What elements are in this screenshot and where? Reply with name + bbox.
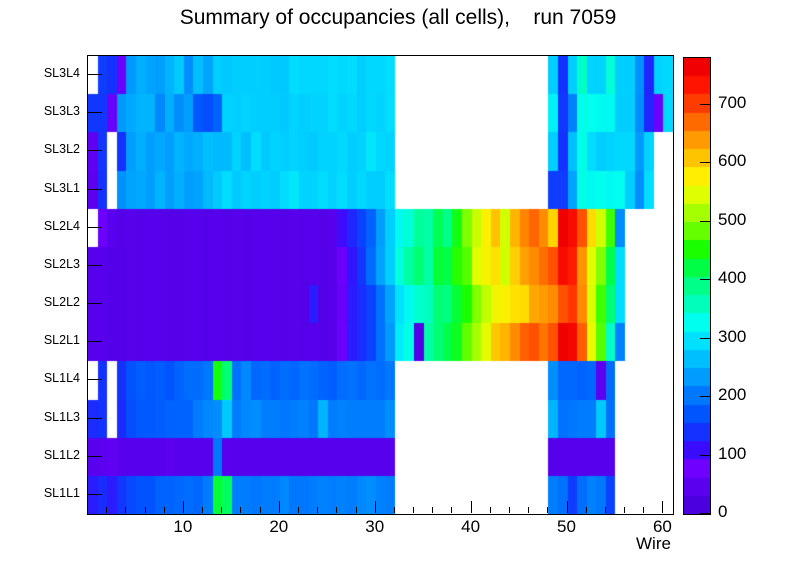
x-axis-minor-tick	[451, 507, 452, 513]
x-axis-minor-tick	[586, 507, 587, 513]
colorbar-tick-label: 100	[718, 444, 746, 464]
x-axis-minor-tick	[605, 507, 606, 513]
colorbar-tick	[700, 396, 711, 397]
y-axis-label-sl3l1: SL3L1	[0, 181, 80, 195]
x-axis-major-tick	[662, 501, 663, 513]
colorbar-tick	[700, 221, 711, 222]
colorbar-tick-label: 0	[718, 502, 727, 522]
y-axis-label-sl2l3: SL2L3	[0, 257, 80, 271]
page-title: Summary of occupancies (all cells), run …	[0, 6, 796, 30]
colorbar-tick-label: 200	[718, 385, 746, 405]
x-axis-minor-tick	[106, 507, 107, 513]
colorbar-tick-label: 600	[718, 151, 746, 171]
y-axis-label-sl2l2: SL2L2	[0, 295, 80, 309]
y-axis-tick	[87, 456, 102, 457]
y-axis-label-sl1l2: SL1L2	[0, 448, 80, 462]
x-axis-minor-tick	[125, 507, 126, 513]
heatmap-plot-area[interactable]	[87, 55, 674, 515]
x-axis-minor-tick	[528, 507, 529, 513]
x-axis-minor-tick	[260, 507, 261, 513]
colorbar-tick-label: 300	[718, 327, 746, 347]
x-axis-major-tick	[471, 501, 472, 513]
colorbar-tick-label: 700	[718, 93, 746, 113]
x-axis-minor-tick	[202, 507, 203, 513]
x-axis-minor-tick	[490, 507, 491, 513]
y-axis-tick	[87, 112, 102, 113]
y-axis-tick	[87, 418, 102, 419]
x-axis-minor-tick	[145, 507, 146, 513]
x-axis-major-tick	[567, 501, 568, 513]
y-axis-tick	[87, 150, 102, 151]
y-axis-label-sl3l4: SL3L4	[0, 66, 80, 80]
x-axis-minor-tick	[336, 507, 337, 513]
x-axis-tick-label: 30	[350, 517, 400, 537]
colorbar-tick	[700, 338, 711, 339]
x-axis-minor-tick	[624, 507, 625, 513]
x-axis-tick-label: 40	[446, 517, 496, 537]
colorbar-gradient	[684, 58, 710, 514]
y-axis-label-sl3l2: SL3L2	[0, 142, 80, 156]
x-axis-minor-tick	[298, 507, 299, 513]
x-axis-minor-tick	[509, 507, 510, 513]
y-axis-tick	[87, 74, 102, 75]
y-axis-label-sl2l4: SL2L4	[0, 219, 80, 233]
x-axis-minor-tick	[547, 507, 548, 513]
colorbar-tick	[700, 279, 711, 280]
colorbar-tick	[700, 162, 711, 163]
y-axis-label-sl1l4: SL1L4	[0, 371, 80, 385]
x-axis-tick-label: 10	[158, 517, 208, 537]
y-axis-label-sl2l1: SL2L1	[0, 333, 80, 347]
x-axis-minor-tick	[164, 507, 165, 513]
x-axis-major-tick	[375, 501, 376, 513]
heatmap-cells[interactable]	[88, 56, 673, 514]
x-axis-minor-tick	[413, 507, 414, 513]
y-axis-tick	[87, 341, 102, 342]
plot-canvas: Summary of occupancies (all cells), run …	[0, 0, 796, 572]
colorbar-tick	[700, 513, 711, 514]
x-axis-tick-label: 20	[254, 517, 304, 537]
y-axis-tick	[87, 494, 102, 495]
x-axis-major-tick	[183, 501, 184, 513]
x-axis-minor-tick	[221, 507, 222, 513]
y-axis-tick	[87, 379, 102, 380]
y-axis-label-sl1l3: SL1L3	[0, 410, 80, 424]
y-axis-tick	[87, 189, 102, 190]
x-axis-minor-tick	[356, 507, 357, 513]
x-axis-title: Wire	[636, 534, 671, 554]
y-axis-label-sl1l1: SL1L1	[0, 486, 80, 500]
y-axis-tick	[87, 265, 102, 266]
colorbar-tick-label: 500	[718, 210, 746, 230]
colorbar-tick-label: 400	[718, 268, 746, 288]
x-axis-minor-tick	[317, 507, 318, 513]
colorbar[interactable]	[683, 57, 711, 515]
y-axis-label-sl3l3: SL3L3	[0, 104, 80, 118]
x-axis-major-tick	[279, 501, 280, 513]
colorbar-tick	[700, 104, 711, 105]
colorbar-tick	[700, 455, 711, 456]
y-axis-tick	[87, 227, 102, 228]
x-axis-minor-tick	[394, 507, 395, 513]
y-axis-tick	[87, 303, 102, 304]
x-axis-minor-tick	[432, 507, 433, 513]
x-axis-minor-tick	[643, 507, 644, 513]
x-axis-minor-tick	[240, 507, 241, 513]
x-axis-tick-label: 50	[542, 517, 592, 537]
